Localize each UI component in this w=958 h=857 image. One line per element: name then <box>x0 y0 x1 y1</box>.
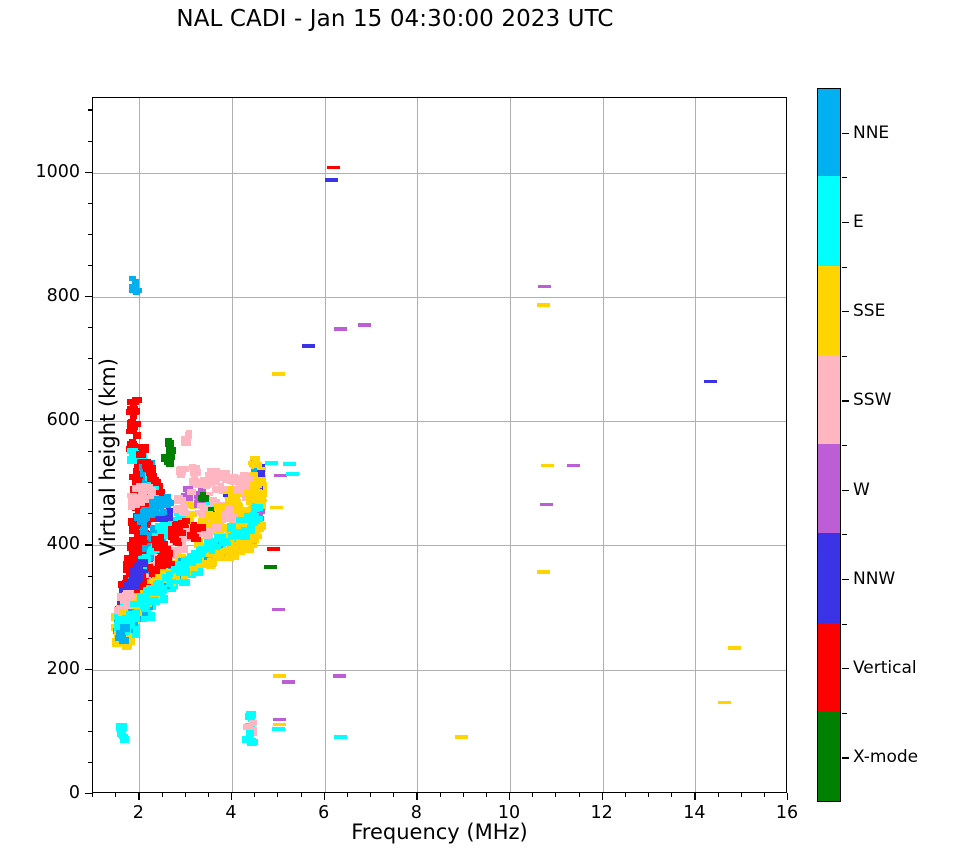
chart-title: NAL CADI - Jan 15 04:30:00 2023 UTC <box>0 6 790 32</box>
colorbar-tick <box>842 579 849 580</box>
data-point <box>164 550 174 556</box>
colorbar-label-x-mode: X-mode <box>853 747 918 767</box>
data-point <box>119 637 130 644</box>
data-point <box>154 544 163 551</box>
y-tick-minor <box>88 762 92 763</box>
y-tick-minor <box>88 700 92 701</box>
colorbar-band-sse <box>818 265 840 355</box>
data-point <box>272 727 285 731</box>
y-tick-label: 400 <box>2 534 80 554</box>
data-point <box>272 608 285 612</box>
colorbar-tick <box>842 490 849 491</box>
y-tick-minor <box>88 638 92 639</box>
data-point <box>264 565 277 569</box>
data-point <box>176 495 183 502</box>
data-point <box>182 559 191 565</box>
colorbar-tick <box>842 757 849 758</box>
data-point <box>197 553 206 558</box>
data-point <box>133 408 139 415</box>
x-tick-minor <box>648 793 649 797</box>
data-point <box>164 458 172 465</box>
colorbar-separator <box>842 177 847 178</box>
x-tick-minor <box>579 793 580 797</box>
data-point <box>162 555 172 561</box>
data-point <box>273 674 286 678</box>
data-point <box>147 475 155 482</box>
data-point <box>140 446 147 451</box>
x-tick-minor <box>115 793 116 797</box>
data-point <box>541 464 554 468</box>
x-tick <box>416 793 417 800</box>
y-tick-label: 200 <box>2 659 80 679</box>
colorbar-tick <box>842 222 849 223</box>
data-point <box>197 503 206 509</box>
x-tick <box>602 793 603 800</box>
data-point <box>358 323 371 327</box>
y-tick-label: 1000 <box>2 162 80 182</box>
colorbar-separator <box>842 356 847 357</box>
colorbar-separator <box>842 445 847 446</box>
data-point <box>149 487 156 492</box>
x-tick <box>231 793 232 800</box>
data-point <box>252 534 262 539</box>
data-point <box>241 480 248 486</box>
data-point <box>179 530 186 536</box>
colorbar-label-vertical: Vertical <box>853 658 917 678</box>
colorbar-band-ssw <box>818 354 840 444</box>
colorbar-separator <box>842 624 847 625</box>
data-point <box>177 546 187 554</box>
colorbar-label-e: E <box>853 212 864 232</box>
data-point <box>164 494 170 499</box>
data-point <box>187 489 197 496</box>
data-point <box>195 510 201 516</box>
colorbar-band-vertical <box>818 622 840 712</box>
azimuth-colorbar <box>817 88 841 802</box>
colorbar-separator <box>842 713 847 714</box>
y-tick-minor <box>88 265 92 266</box>
data-point <box>270 506 283 510</box>
colorbar-tick <box>842 311 849 312</box>
y-tick-label: 0 <box>2 783 80 803</box>
y-tick-minor <box>88 358 92 359</box>
data-point <box>129 276 136 281</box>
colorbar-tick <box>842 668 849 669</box>
x-tick-minor <box>764 793 765 797</box>
data-point <box>179 510 189 516</box>
data-point <box>537 570 550 574</box>
data-point <box>302 344 315 348</box>
data-point <box>233 486 244 494</box>
data-point <box>718 701 731 705</box>
y-tick <box>85 296 92 297</box>
data-point <box>171 532 178 538</box>
data-point <box>137 519 145 525</box>
data-point <box>282 680 295 684</box>
data-point <box>286 472 299 476</box>
scatter-data-layer <box>93 98 786 792</box>
data-point <box>191 537 201 542</box>
data-point <box>134 574 143 582</box>
data-point <box>123 590 134 597</box>
y-tick-minor <box>88 607 92 608</box>
x-tick <box>694 793 695 800</box>
data-point <box>283 462 296 466</box>
x-tick <box>509 793 510 800</box>
data-point <box>136 561 142 566</box>
data-point <box>273 723 286 727</box>
data-point <box>537 303 550 307</box>
data-point <box>333 674 346 678</box>
data-point <box>166 579 177 584</box>
x-tick <box>138 793 139 800</box>
data-point <box>200 492 206 499</box>
y-tick <box>85 793 92 794</box>
data-point <box>334 327 347 331</box>
x-tick-minor <box>625 793 626 797</box>
y-tick-minor <box>88 482 92 483</box>
data-point <box>325 178 338 182</box>
data-point <box>140 604 150 610</box>
data-point <box>186 430 192 438</box>
data-point <box>179 522 189 527</box>
data-point <box>200 477 209 485</box>
colorbar-tick <box>842 400 849 401</box>
data-point <box>538 285 551 289</box>
data-point <box>165 561 175 566</box>
data-point <box>257 490 267 497</box>
colorbar-band-nnw <box>818 533 840 623</box>
y-tick-minor <box>88 234 92 235</box>
data-point <box>252 459 259 467</box>
colorbar-label-nne: NNE <box>853 123 889 143</box>
colorbar-label-sse: SSE <box>853 301 885 321</box>
data-point <box>133 432 141 439</box>
y-tick-minor <box>88 203 92 204</box>
data-point <box>220 486 228 491</box>
data-point <box>127 448 133 454</box>
data-point <box>133 601 140 607</box>
colorbar-band-nne <box>818 88 840 176</box>
y-tick-label: 800 <box>2 286 80 306</box>
data-point <box>136 451 146 458</box>
y-tick-minor <box>88 451 92 452</box>
data-point <box>567 464 580 468</box>
x-tick-minor <box>671 793 672 797</box>
data-point <box>173 538 182 544</box>
colorbar-separator <box>842 534 847 535</box>
data-point <box>224 541 231 546</box>
x-tick-minor <box>185 793 186 797</box>
colorbar-band-x-mode <box>818 711 840 801</box>
y-tick <box>85 669 92 670</box>
y-axis-title: Virtual height (km) <box>96 257 120 657</box>
data-point <box>166 571 173 577</box>
y-tick-minor <box>88 327 92 328</box>
data-point <box>120 736 129 743</box>
data-point <box>180 466 189 472</box>
x-axis-title: Frequency (MHz) <box>92 820 787 844</box>
y-tick-label: 600 <box>2 410 80 430</box>
x-tick-minor <box>486 793 487 797</box>
data-point <box>245 476 253 481</box>
data-point <box>199 526 206 531</box>
data-point <box>189 478 199 486</box>
x-tick <box>324 793 325 800</box>
data-point <box>149 597 160 605</box>
y-tick <box>85 420 92 421</box>
data-point <box>334 735 347 739</box>
x-tick-minor <box>277 793 278 797</box>
data-point <box>704 380 717 384</box>
data-point <box>272 372 285 376</box>
data-point <box>175 505 184 510</box>
x-tick-minor <box>301 793 302 797</box>
data-point <box>540 503 553 507</box>
y-tick <box>85 172 92 173</box>
x-tick-minor <box>92 793 93 797</box>
y-tick-minor <box>88 576 92 577</box>
data-point <box>189 464 196 469</box>
x-tick-minor <box>741 793 742 797</box>
data-point <box>327 166 340 170</box>
data-point <box>174 567 180 573</box>
data-point <box>160 509 167 516</box>
colorbar-label-w: W <box>853 480 870 500</box>
data-point <box>128 504 135 510</box>
data-point <box>129 284 139 291</box>
data-point <box>728 646 741 650</box>
data-point <box>137 459 148 464</box>
x-tick-minor <box>347 793 348 797</box>
data-point <box>182 568 190 576</box>
colorbar-label-ssw: SSW <box>853 390 891 410</box>
y-tick <box>85 544 92 545</box>
x-tick-minor <box>463 793 464 797</box>
x-tick-minor <box>370 793 371 797</box>
data-point <box>179 579 189 586</box>
colorbar-band-e <box>818 176 840 266</box>
data-point <box>127 399 135 406</box>
data-point <box>252 503 263 511</box>
x-tick-minor <box>532 793 533 797</box>
data-point <box>228 533 237 538</box>
data-point <box>140 509 146 514</box>
data-point <box>273 718 286 722</box>
data-point <box>116 723 127 731</box>
data-point <box>267 547 280 551</box>
data-point <box>219 503 227 509</box>
data-point <box>265 461 278 465</box>
x-tick <box>787 793 788 800</box>
colorbar-tick <box>842 133 849 134</box>
y-tick-minor <box>88 141 92 142</box>
y-tick-minor <box>88 513 92 514</box>
colorbar-band-w <box>818 444 840 534</box>
data-point <box>117 731 125 736</box>
x-tick-minor <box>208 793 209 797</box>
data-point <box>455 735 468 739</box>
y-tick-minor <box>88 389 92 390</box>
x-tick-minor <box>162 793 163 797</box>
y-tick-minor <box>88 731 92 732</box>
x-tick-minor <box>555 793 556 797</box>
data-point <box>242 736 253 743</box>
data-point <box>236 517 245 523</box>
colorbar-separator <box>842 267 847 268</box>
x-tick-minor <box>440 793 441 797</box>
data-point <box>140 527 148 535</box>
data-point <box>131 421 141 428</box>
colorbar-label-nnw: NNW <box>853 569 895 589</box>
x-tick-minor <box>718 793 719 797</box>
plot-area <box>92 97 787 793</box>
x-tick-minor <box>393 793 394 797</box>
y-tick-minor <box>88 109 92 110</box>
x-tick-minor <box>254 793 255 797</box>
data-point <box>120 624 129 632</box>
data-point <box>162 502 171 508</box>
data-point <box>165 440 174 447</box>
